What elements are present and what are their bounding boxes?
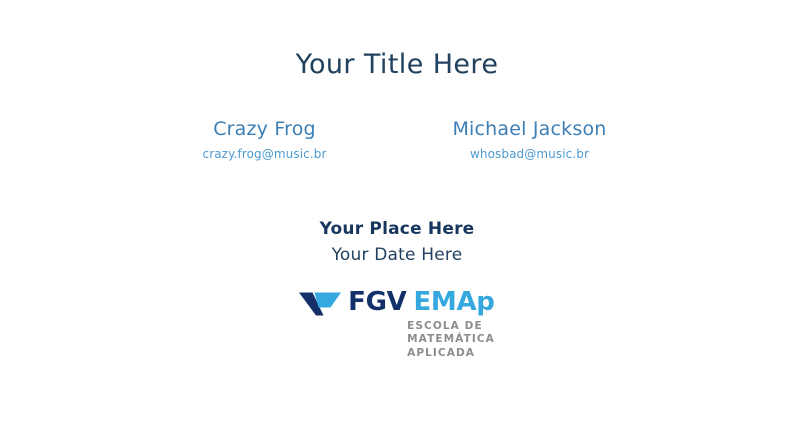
place-text: Your Place Here <box>0 219 794 239</box>
author-name: Crazy Frog <box>132 118 397 141</box>
author-list: Crazy Frog crazy.frog@music.br Michael J… <box>0 118 794 161</box>
author-email: crazy.frog@music.br <box>132 147 397 161</box>
title-slide: Your Title Here Crazy Frog crazy.frog@mu… <box>0 0 794 447</box>
author-name: Michael Jackson <box>397 118 662 141</box>
logo-fgv-text: FGV <box>348 287 406 317</box>
fgv-emap-logo: FGVEMAp ESCOLA DE MATEMÁTICA APLICADA <box>0 289 794 360</box>
logo-subtitle-line: APLICADA <box>407 347 495 360</box>
logo-subtitle-line: MATEMÁTICA <box>407 333 495 346</box>
logo-subtitle-line: ESCOLA DE <box>407 320 495 333</box>
page-title: Your Title Here <box>0 50 794 80</box>
logo-wordmark: FGVEMAp <box>348 289 495 315</box>
author-entry: Crazy Frog crazy.frog@music.br <box>132 118 397 161</box>
logo-subtitle: ESCOLA DE MATEMÁTICA APLICADA <box>407 320 495 360</box>
logo-text: FGVEMAp ESCOLA DE MATEMÁTICA APLICADA <box>348 289 495 360</box>
date-text: Your Date Here <box>0 245 794 265</box>
fgv-chevron-icon <box>299 291 341 317</box>
author-email: whosbad@music.br <box>397 147 662 161</box>
logo-inner: FGVEMAp ESCOLA DE MATEMÁTICA APLICADA <box>299 289 495 360</box>
author-entry: Michael Jackson whosbad@music.br <box>397 118 662 161</box>
logo-emap-text: EMAp <box>413 287 494 317</box>
